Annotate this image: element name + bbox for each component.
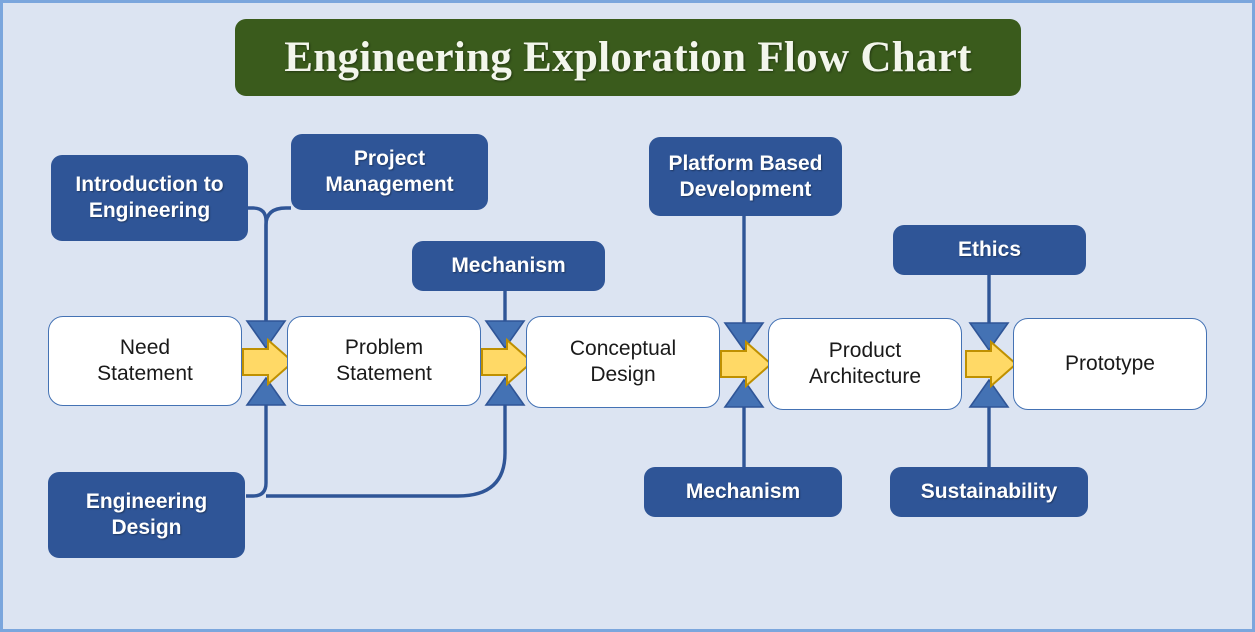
node-need-statement[interactable]: Need Statement xyxy=(48,316,242,406)
node-conceptual-design[interactable]: Conceptual Design xyxy=(526,316,720,408)
node-platform-based-development[interactable]: Platform Based Development xyxy=(649,137,842,216)
node-problem-statement-line2: Statement xyxy=(336,361,432,387)
connector-project-management xyxy=(266,208,291,323)
node-platform-based-development-line2: Development xyxy=(668,177,822,203)
page-title-text: Engineering Exploration Flow Chart xyxy=(284,33,971,82)
node-engineering-design-line1: Engineering xyxy=(86,489,207,515)
node-mechanism-top[interactable]: Mechanism xyxy=(412,241,605,291)
arrow-need-to-problem xyxy=(243,340,293,384)
node-conceptual-design-line1: Conceptual xyxy=(570,336,676,362)
connector-mechanism-bottom xyxy=(725,380,763,467)
node-problem-statement[interactable]: Problem Statement xyxy=(287,316,481,406)
node-mechanism-bottom[interactable]: Mechanism xyxy=(644,467,842,517)
node-engineering-design[interactable]: Engineering Design xyxy=(48,472,245,558)
node-introduction-to-engineering[interactable]: Introduction to Engineering xyxy=(51,155,248,241)
node-introduction-to-engineering-line2: Engineering xyxy=(75,198,223,224)
node-project-management[interactable]: Project Management xyxy=(291,134,488,210)
node-mechanism-top-line1: Mechanism xyxy=(451,253,565,279)
node-prototype[interactable]: Prototype xyxy=(1013,318,1207,410)
node-need-statement-line1: Need xyxy=(97,335,193,361)
node-ethics[interactable]: Ethics xyxy=(893,225,1086,275)
flow-chart-canvas: .conn { fill: none; stroke: #2f5597; str… xyxy=(0,0,1255,632)
node-conceptual-design-line2: Design xyxy=(570,362,676,388)
node-ethics-line1: Ethics xyxy=(958,237,1021,263)
node-product-architecture-line2: Architecture xyxy=(809,364,921,390)
node-need-statement-line2: Statement xyxy=(97,361,193,387)
node-introduction-to-engineering-line1: Introduction to xyxy=(75,172,223,198)
connector-engineering-design-to-need-problem xyxy=(246,378,285,496)
node-problem-statement-line1: Problem xyxy=(336,335,432,361)
arrow-problem-to-conceptual xyxy=(482,340,532,384)
node-prototype-line1: Prototype xyxy=(1065,351,1155,377)
page-title: Engineering Exploration Flow Chart xyxy=(235,19,1021,96)
node-product-architecture-line1: Product xyxy=(809,338,921,364)
node-engineering-design-line2: Design xyxy=(86,515,207,541)
connector-ethics xyxy=(970,275,1008,350)
connector-mechanism-top xyxy=(486,291,524,348)
connector-sustainability xyxy=(970,380,1008,467)
node-product-architecture[interactable]: Product Architecture xyxy=(768,318,962,410)
node-sustainability[interactable]: Sustainability xyxy=(890,467,1088,517)
arrow-product-to-prototype xyxy=(966,342,1016,386)
connector-introduction-to-engineering xyxy=(248,208,266,323)
connector-platform-based-development xyxy=(725,216,763,350)
arrowhead-into-need-problem-junction xyxy=(247,321,285,348)
node-mechanism-bottom-line1: Mechanism xyxy=(686,479,800,505)
node-project-management-line1: Project xyxy=(325,146,453,172)
node-platform-based-development-line1: Platform Based xyxy=(668,151,822,177)
node-sustainability-line1: Sustainability xyxy=(921,479,1058,505)
arrow-conceptual-to-product xyxy=(721,342,771,386)
node-project-management-line2: Management xyxy=(325,172,453,198)
